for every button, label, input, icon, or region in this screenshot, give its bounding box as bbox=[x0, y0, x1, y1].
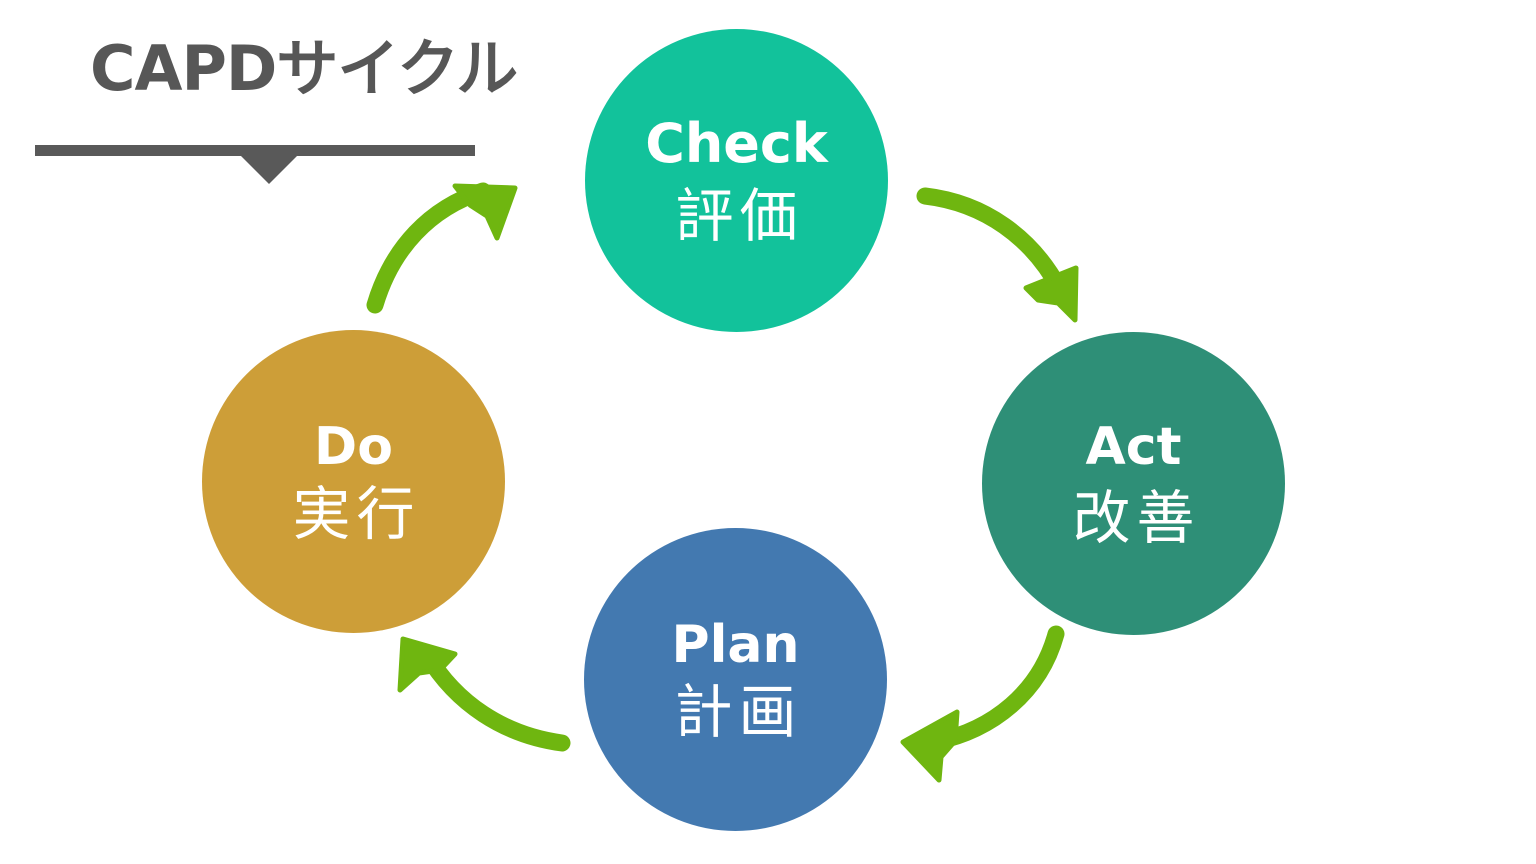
arrow-do-to-check bbox=[375, 186, 515, 305]
title-underline-notch-icon bbox=[241, 156, 297, 184]
cycle-node-plan-label-ja: 計画 bbox=[668, 683, 802, 741]
title-underline-rule bbox=[35, 145, 475, 156]
cycle-node-act-label-ja: 改善 bbox=[1066, 489, 1200, 547]
arrow-act-to-plan bbox=[903, 634, 1056, 780]
cycle-node-check-label-ja: 評価 bbox=[669, 187, 803, 245]
cycle-node-do[interactable]: Do 実行 bbox=[202, 330, 505, 633]
cycle-node-plan[interactable]: Plan 計画 bbox=[584, 528, 887, 831]
capd-cycle-diagram: CAPDサイクル Check 評価 Act 改善 bbox=[0, 0, 1536, 864]
page-title: CAPDサイクル bbox=[90, 38, 517, 100]
cycle-node-act-label-en: Act bbox=[1086, 421, 1182, 473]
cycle-node-do-label-en: Do bbox=[314, 421, 393, 473]
arrow-plan-to-do bbox=[400, 639, 562, 743]
cycle-node-check-label-en: Check bbox=[645, 117, 828, 171]
arrow-check-to-act bbox=[925, 196, 1076, 320]
cycle-node-plan-label-en: Plan bbox=[671, 619, 799, 671]
cycle-node-check[interactable]: Check 評価 bbox=[585, 29, 888, 332]
cycle-node-do-label-ja: 実行 bbox=[286, 485, 420, 543]
cycle-node-act[interactable]: Act 改善 bbox=[982, 332, 1285, 635]
diagram-title-block: CAPDサイクル bbox=[35, 38, 480, 178]
